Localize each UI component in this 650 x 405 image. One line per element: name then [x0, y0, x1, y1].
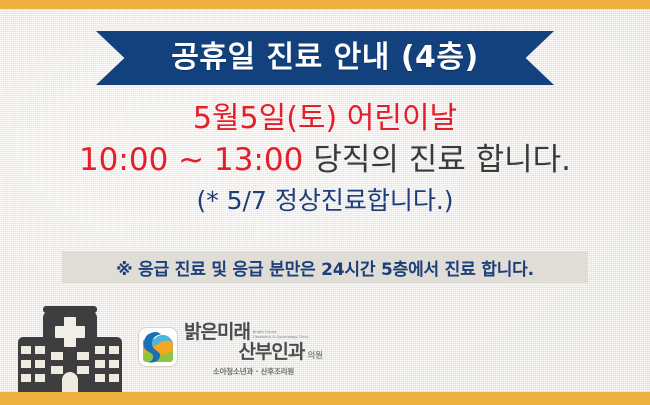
service-hours: 10:00 ~ 13:00	[79, 142, 303, 178]
hours-line: 10:00 ~ 13:00당직의 진료 합니다.	[0, 141, 650, 181]
clinic-logo-row-2: 산부인과 의원	[184, 343, 323, 362]
bottom-accent-bar	[0, 392, 650, 405]
emergency-notice-band: ※ 응급 진료 및 응급 분만은 24시간 5층에서 진료 합니다.	[62, 251, 588, 283]
banner-title: 공휴일 진료 안내 (4층)	[171, 43, 478, 73]
clinic-logo-row-1: 밝은미래 Bright Future Obstetrics & Gynecolo…	[184, 323, 323, 342]
banner-ribbon: 공휴일 진료 안내 (4층)	[96, 31, 554, 85]
duty-doctor-text: 당직의 진료 합니다.	[303, 142, 571, 178]
normal-service-note: (* 5/7 정상진료합니다.)	[0, 185, 650, 217]
clinic-english-line2: Obstetrics & Gynecology Clinic	[253, 335, 309, 339]
holiday-date-line: 5월5일(토) 어린이날	[0, 100, 650, 138]
notice-message-block: 5월5일(토) 어린이날 10:00 ~ 13:00당직의 진료 합니다. (*…	[0, 100, 650, 217]
clinic-logo-text: 밝은미래 Bright Future Obstetrics & Gynecolo…	[184, 323, 323, 377]
clinic-logo: 밝은미래 Bright Future Obstetrics & Gynecolo…	[138, 323, 323, 385]
clinic-name-line1: 밝은미래	[184, 323, 250, 342]
clinic-name-suffix: 의원	[307, 352, 323, 363]
clinic-logo-mark-icon	[138, 327, 178, 367]
banner-ribbon-body: 공휴일 진료 안내 (4층)	[96, 31, 554, 85]
emergency-notice-text: ※ 응급 진료 및 응급 분만은 24시간 5층에서 진료 합니다.	[116, 255, 534, 280]
hospital-building-icon	[18, 306, 122, 392]
clinic-name-line2: 산부인과	[238, 343, 304, 362]
clinic-english-line1: Bright Future	[253, 330, 277, 334]
top-accent-bar	[0, 0, 650, 9]
holiday-notice-poster: 공휴일 진료 안내 (4층) 5월5일(토) 어린이날 10:00 ~ 13:0…	[0, 0, 650, 405]
clinic-departments-subtitle: 소아청소년과 · 산후조리원	[184, 366, 323, 377]
